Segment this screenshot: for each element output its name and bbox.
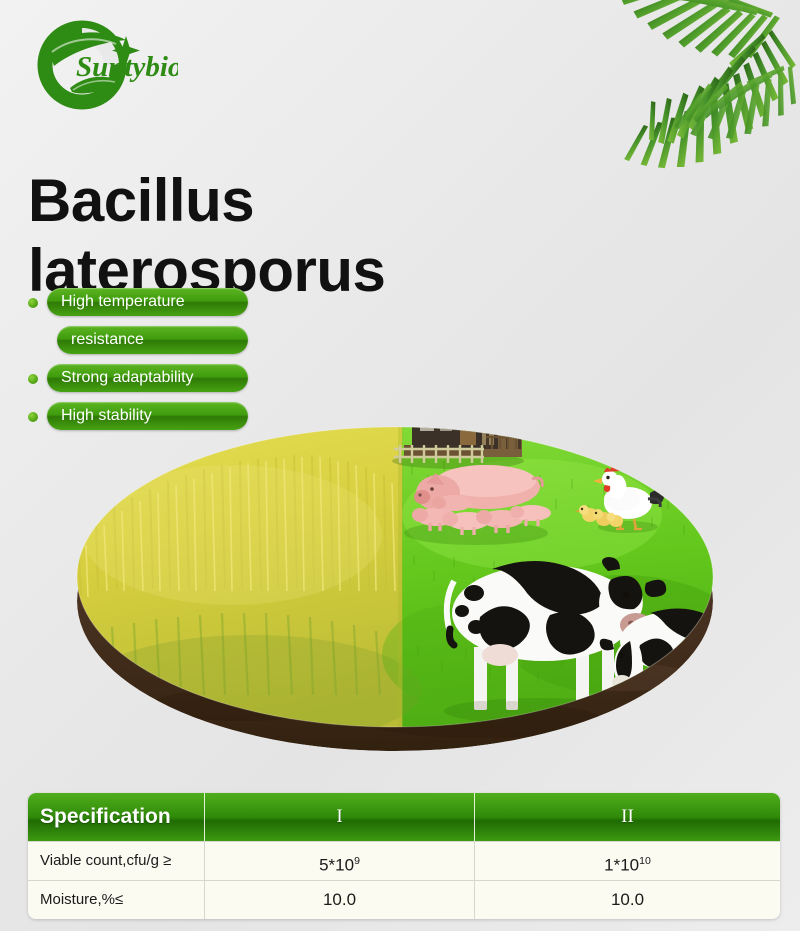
viable-count-grade-i: 5*109: [205, 842, 475, 880]
green-dot-bullet-icon: [28, 374, 38, 384]
table-row: Moisture,%≤ 10.0 10.0: [28, 880, 780, 919]
viable-count-grade-ii-base: 1*10: [604, 856, 639, 875]
feature-label-0: High temperature: [47, 288, 248, 316]
feature-label-1: Strong adaptability: [47, 364, 248, 392]
header-grade-i: I: [205, 793, 475, 841]
row-label-viable-count: Viable count,cfu/g ≥: [28, 842, 205, 880]
viable-count-grade-ii: 1*1010: [475, 842, 780, 880]
title-line-1: Bacillus: [28, 166, 548, 236]
viable-count-grade-i-base: 5*10: [319, 856, 354, 875]
moisture-grade-ii: 10.0: [475, 881, 780, 919]
feature-item-1: Strong adaptability: [20, 364, 320, 394]
page-title: Bacillus laterosporus: [28, 166, 548, 305]
farm-ellipse-illustration: [62, 405, 728, 775]
feature-label-0-continuation: resistance: [57, 326, 248, 354]
table-row: Viable count,cfu/g ≥ 5*109 1*1010: [28, 841, 780, 880]
specification-table: Specification I II Viable count,cfu/g ≥ …: [28, 793, 780, 919]
feature-item-0-continuation: resistance: [20, 326, 320, 356]
moisture-grade-i: 10.0: [205, 881, 475, 919]
green-dot-bullet-icon: [28, 298, 38, 308]
viable-count-grade-i-exp: 9: [354, 855, 360, 867]
svg-text:Suntybio: Suntybio: [76, 51, 178, 83]
suntybio-circular-leaf-logo: Suntybio: [30, 18, 178, 114]
header-specification: Specification: [28, 793, 205, 841]
table-header-row: Specification I II: [28, 793, 780, 841]
brand-logo: Suntybio: [30, 18, 178, 114]
table-body: Viable count,cfu/g ≥ 5*109 1*1010 Moistu…: [28, 841, 780, 919]
row-label-moisture: Moisture,%≤: [28, 881, 205, 919]
product-infographic: Suntybio: [0, 0, 800, 931]
feature-item-0: High temperature: [20, 288, 320, 318]
viable-count-grade-ii-exp: 10: [639, 855, 651, 867]
green-dot-bullet-icon: [28, 412, 38, 422]
header-grade-ii: II: [475, 793, 780, 841]
